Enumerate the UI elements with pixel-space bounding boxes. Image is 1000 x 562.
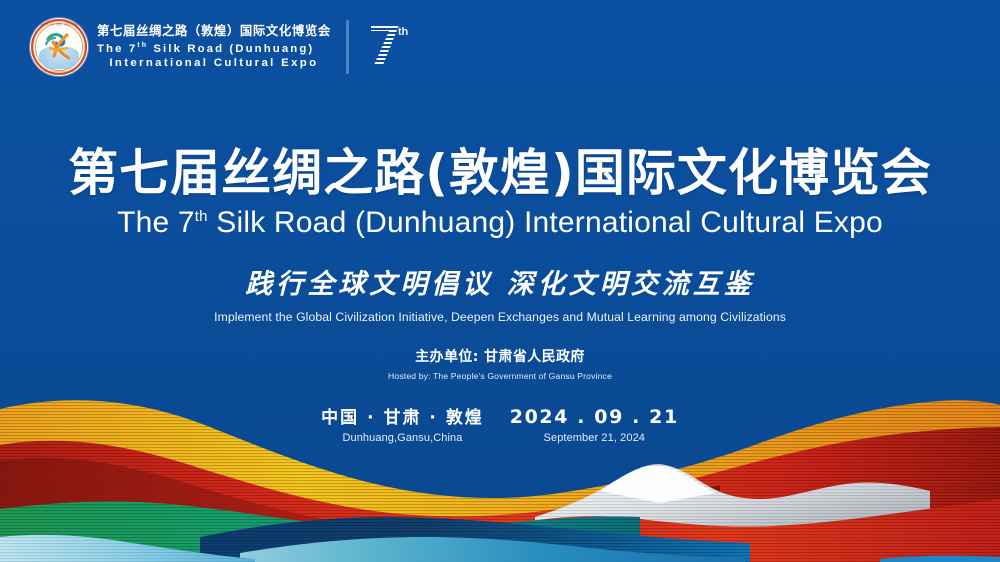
venue-and-date-block: 中国 · 甘肃 · 敦煌 Dunhuang,Gansu,China 2024 .… — [0, 403, 1000, 444]
slogan-en: Implement the Global Civilization Initia… — [0, 310, 1000, 324]
page-title-en-post: Silk Road (Dunhuang) International Cultu… — [208, 206, 883, 239]
header-divider — [346, 20, 349, 74]
svg-text:The 7th Silk Road (Dunhuang) E: The 7th Silk Road (Dunhuang) Expo — [40, 70, 78, 73]
header-logo-en-ordinal: th — [137, 42, 148, 49]
edition-ordinal-suffix: th — [398, 26, 408, 38]
page-title-cn: 第七届丝绸之路(敦煌)国际文化博览会 — [0, 146, 1000, 200]
poster-canvas: 第七届丝绸之路（敦煌）国际文化博览会 The 7th Silk Road (Du… — [0, 0, 1000, 562]
page-title-en: The 7th Silk Road (Dunhuang) Internation… — [0, 206, 1000, 240]
header-logo-en-line1-pre: The 7 — [97, 43, 137, 55]
venue-en: Dunhuang,Gansu,China — [321, 432, 484, 444]
venue-column: 中国 · 甘肃 · 敦煌 Dunhuang,Gansu,China — [321, 403, 484, 444]
venue-cn: 中国 · 甘肃 · 敦煌 — [321, 403, 484, 428]
header-logo-en-line1-rest: Silk Road (Dunhuang) — [148, 43, 314, 55]
page-title-en-ordinal: th — [195, 208, 208, 225]
edition-seven-mark: th — [368, 20, 414, 74]
main-title-block: 第七届丝绸之路(敦煌)国际文化博览会 The 7th Silk Road (Du… — [0, 146, 1000, 444]
header-logo-en-line1: The 7th Silk Road (Dunhuang) — [97, 42, 331, 55]
date-en: September 21, 2024 — [510, 432, 679, 444]
date-primary: 2024 . 09 . 21 — [510, 406, 679, 428]
date-column: 2024 . 09 . 21 September 21, 2024 — [510, 406, 679, 444]
silk-road-expo-emblem-icon: 第七届丝绸之路（敦煌）国际文化博览会 The 7th Silk Road (Du… — [30, 18, 88, 76]
header-logo-en-line2: International Cultural Expo — [97, 58, 331, 69]
host-organization-cn: 主办单位: 甘肃省人民政府 — [0, 346, 1000, 366]
header-logo-lockup: 第七届丝绸之路（敦煌）国际文化博览会 The 7th Silk Road (Du… — [30, 18, 414, 76]
slogan-cn: 践行全球文明倡议 深化文明交流互鉴 — [0, 262, 1000, 301]
host-organization-en: Hosted by: The People’s Government of Ga… — [0, 371, 1000, 381]
header-logo-cn: 第七届丝绸之路（敦煌）国际文化博览会 — [97, 25, 331, 37]
page-title-en-pre: The 7 — [117, 206, 195, 239]
svg-text:第七届丝绸之路（敦煌）国际文化博览会: 第七届丝绸之路（敦煌）国际文化博览会 — [36, 22, 83, 26]
header-logo-text: 第七届丝绸之路（敦煌）国际文化博览会 The 7th Silk Road (Du… — [97, 24, 331, 69]
emblem-ribbon-glyph: 第七届丝绸之路（敦煌）国际文化博览会 The 7th Silk Road (Du… — [30, 18, 88, 76]
seven-glyph-icon — [368, 22, 402, 68]
